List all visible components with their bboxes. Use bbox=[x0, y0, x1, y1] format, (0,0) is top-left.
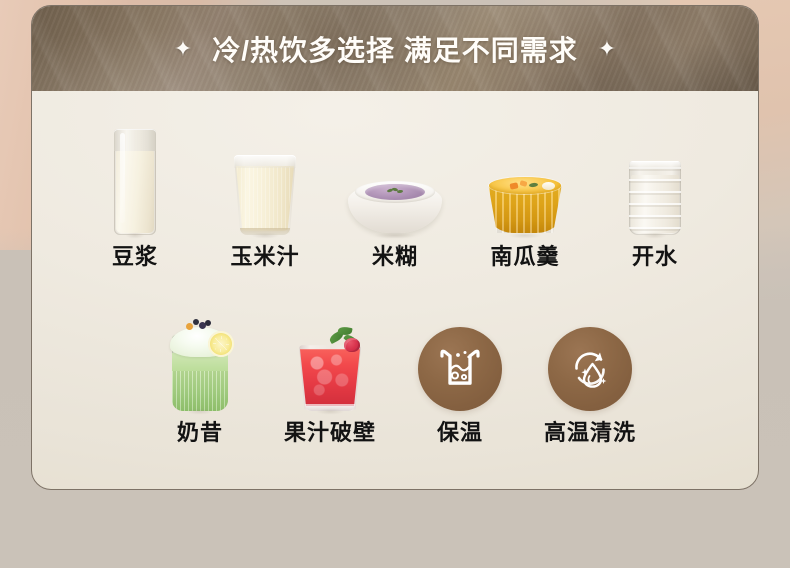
milkshake-glass-image bbox=[170, 291, 230, 411]
feature-item-corn-juice: 玉米汁 bbox=[200, 115, 330, 269]
feature-item-keep-warm: 保温 bbox=[395, 291, 525, 445]
sparkle-right-icon: ✦ bbox=[598, 38, 616, 60]
feature-item-pumpkin-soup: 南瓜羹 bbox=[460, 115, 590, 269]
banner-title: 冷/热饮多选择 满足不同需求 bbox=[212, 29, 578, 69]
keep-warm-basin-icon bbox=[418, 327, 502, 411]
feature-label-boiled-water: 开水 bbox=[632, 245, 678, 269]
feature-item-fruit-juice: 果汁破壁 bbox=[265, 291, 395, 445]
feature-label-corn-juice: 玉米汁 bbox=[230, 245, 299, 269]
rice-paste-bowl-image bbox=[348, 115, 442, 235]
keep-warm-icon-wrapper bbox=[418, 291, 502, 411]
feature-label-keep-warm: 保温 bbox=[437, 421, 483, 445]
feature-label-rice-paste: 米糊 bbox=[372, 245, 418, 269]
feature-item-hot-wash: 高温清洗 bbox=[525, 291, 655, 445]
product-feature-card: ✦ 冷/热饮多选择 满足不同需求 ✦ 豆 bbox=[31, 5, 759, 490]
header-banner: ✦ 冷/热饮多选择 满足不同需求 ✦ bbox=[32, 6, 758, 91]
feature-label-hot-wash: 高温清洗 bbox=[544, 421, 636, 445]
feature-label-pumpkin-soup: 南瓜羹 bbox=[490, 245, 559, 269]
card-bottom-space bbox=[32, 445, 758, 485]
fruit-juice-glass-image bbox=[299, 291, 361, 411]
features-row: 奶昔 bbox=[32, 291, 758, 445]
feature-item-soy-milk: 豆浆 bbox=[70, 115, 200, 269]
beverages-row: 豆浆 玉米汁 bbox=[32, 115, 758, 269]
hot-wash-icon-wrapper bbox=[548, 291, 632, 411]
infographic-page: ✦ 冷/热饮多选择 满足不同需求 ✦ 豆 bbox=[0, 0, 790, 568]
boiled-water-glass-image bbox=[629, 115, 681, 235]
feature-grid: 豆浆 玉米汁 bbox=[32, 91, 758, 490]
feature-label-soy-milk: 豆浆 bbox=[112, 245, 158, 269]
feature-item-boiled-water: 开水 bbox=[590, 115, 720, 269]
corn-juice-glass-image bbox=[234, 115, 296, 235]
feature-item-milkshake: 奶昔 bbox=[135, 291, 265, 445]
soy-milk-glass-image bbox=[114, 115, 156, 235]
hot-wash-droplet-icon bbox=[548, 327, 632, 411]
pumpkin-soup-ramekin-image bbox=[488, 115, 562, 235]
sparkle-left-icon: ✦ bbox=[174, 38, 192, 60]
feature-label-milkshake: 奶昔 bbox=[177, 421, 223, 445]
banner-content: ✦ 冷/热饮多选择 满足不同需求 ✦ bbox=[32, 6, 758, 91]
feature-item-rice-paste: 米糊 bbox=[330, 115, 460, 269]
feature-label-fruit-juice: 果汁破壁 bbox=[284, 421, 376, 445]
